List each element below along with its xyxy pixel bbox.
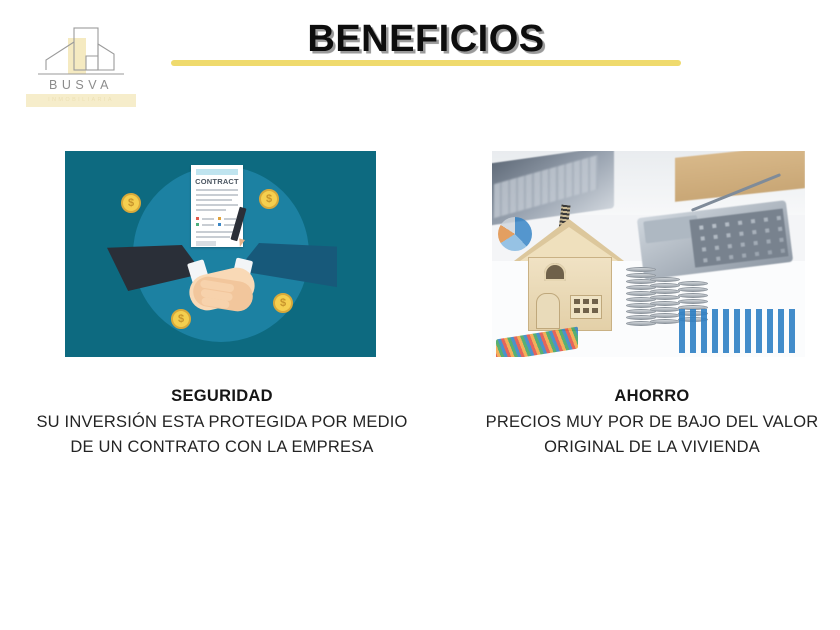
benefit-heading: AHORRO bbox=[462, 386, 840, 407]
coin-icon: $ bbox=[259, 189, 279, 209]
benefit-card-seguridad: CONTRACT bbox=[65, 151, 376, 357]
benefit-description: PRECIOS MUY POR DE BAJO DEL VALOR ORIGIN… bbox=[462, 410, 840, 460]
benefit-description: SU INVERSIÓN ESTA PROTEGIDA POR MEDIO DE… bbox=[32, 410, 412, 460]
title-underline-rule bbox=[171, 60, 681, 66]
coin-icon: $ bbox=[121, 193, 141, 213]
attic-window bbox=[544, 263, 566, 281]
logo-tagline: INMOBILIARIA bbox=[26, 94, 136, 107]
page-title: BENEFICIOS bbox=[170, 18, 682, 61]
roof-inner bbox=[520, 227, 618, 261]
coin-icon: $ bbox=[171, 309, 191, 329]
bar-chart-graphic bbox=[679, 309, 797, 353]
brand-logo: BUSVA INMOBILIARIA bbox=[26, 24, 136, 110]
benefit-card-ahorro bbox=[492, 151, 805, 357]
logo-wordmark: BUSVA bbox=[26, 78, 136, 92]
wooden-house-model bbox=[514, 205, 624, 329]
contract-label: CONTRACT bbox=[191, 177, 243, 186]
handshake-contract-illustration: CONTRACT bbox=[65, 151, 376, 357]
coin-icon: $ bbox=[273, 293, 293, 313]
house-window bbox=[570, 295, 602, 319]
caption-seguridad: SEGURIDAD SU INVERSIÓN ESTA PROTEGIDA PO… bbox=[32, 386, 412, 460]
benefit-heading: SEGURIDAD bbox=[32, 386, 412, 407]
house-savings-photo bbox=[492, 151, 805, 357]
caption-ahorro: AHORRO PRECIOS MUY POR DE BAJO DEL VALOR… bbox=[462, 386, 840, 460]
calculator-keypad bbox=[689, 209, 788, 268]
building-outline-icon bbox=[26, 24, 136, 82]
document-header-band bbox=[196, 169, 238, 175]
house-door bbox=[536, 293, 560, 329]
